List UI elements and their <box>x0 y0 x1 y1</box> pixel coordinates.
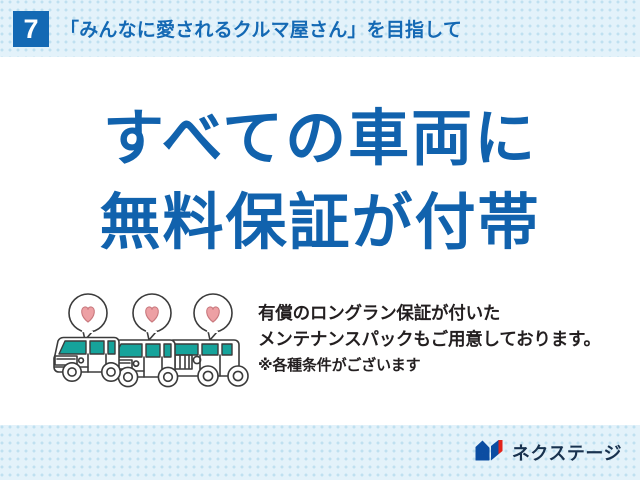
headline-line-1: すべての車両に <box>0 57 640 179</box>
heart-bubble-1 <box>69 294 107 340</box>
body-copy-line-2: メンテナンスパックもご用意しております。 <box>258 327 628 353</box>
brand-name: ネクステージ <box>512 440 622 466</box>
nexstage-n-logo-icon <box>474 438 504 467</box>
brand-lockup: ネクステージ <box>474 438 622 467</box>
headline-line-2: 無料保証が付帯 <box>0 179 640 263</box>
body-copy-note: ※各種条件がございます <box>258 353 628 378</box>
footer-band: ネクステージ <box>0 425 640 480</box>
promo-slide: 7 「みんなに愛されるクルマ屋さん」を目指して すべての車両に 無料保証が付帯 <box>0 0 640 480</box>
body-copy: 有償のロングラン保証が付いた メンテナンスパックもご用意しております。 ※各種条… <box>258 301 628 378</box>
header-band: 7 「みんなに愛されるクルマ屋さん」を目指して <box>0 0 640 57</box>
cars-illustration <box>52 289 252 399</box>
main-content: すべての車両に 無料保証が付帯 <box>0 57 640 425</box>
section-number-badge: 7 <box>13 11 49 47</box>
car-kei-wagon <box>54 338 120 382</box>
lower-row: 有償のロングラン保証が付いた メンテナンスパックもご用意しております。 ※各種条… <box>0 289 640 399</box>
heart-bubble-2 <box>133 294 171 340</box>
heart-bubble-3 <box>194 294 232 340</box>
header-title: 「みんなに愛されるクルマ屋さん」を目指して <box>60 15 462 42</box>
body-copy-line-1: 有償のロングラン保証が付いた <box>258 301 628 327</box>
headline: すべての車両に 無料保証が付帯 <box>0 57 640 263</box>
